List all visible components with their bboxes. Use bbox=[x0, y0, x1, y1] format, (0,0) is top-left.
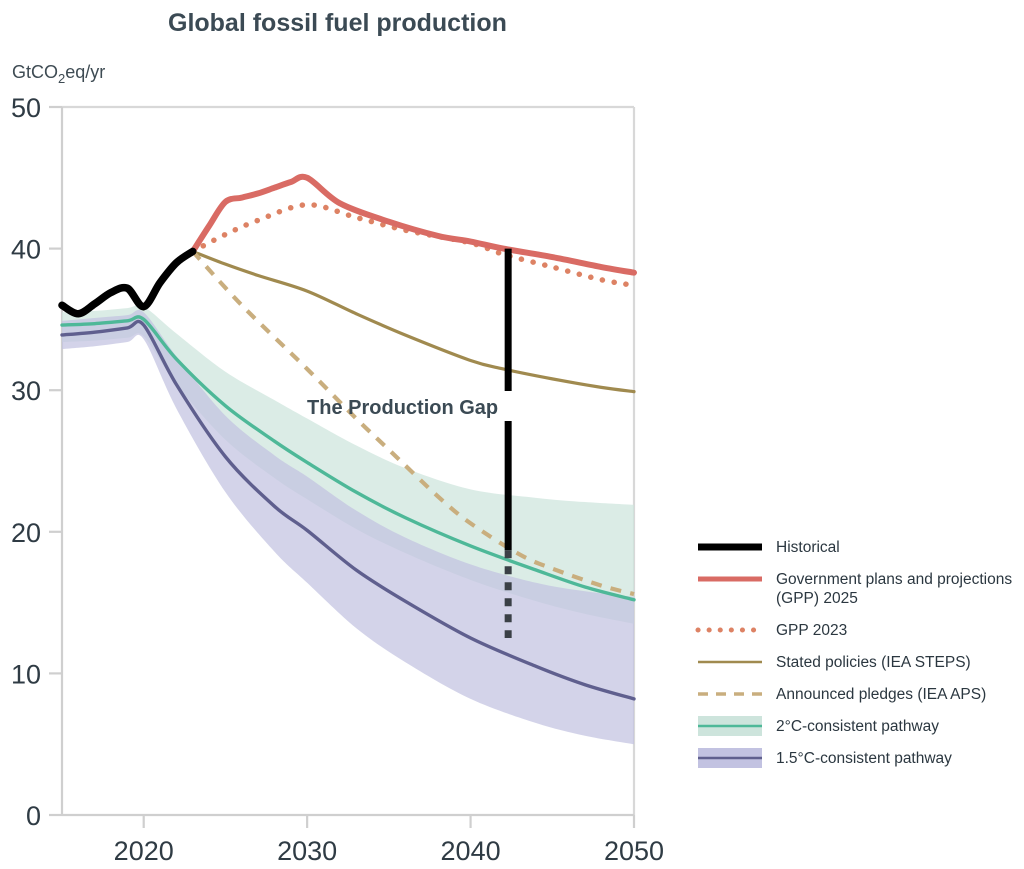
legend-item-aps[interactable]: Announced pledges (IEA APS) bbox=[698, 686, 986, 703]
y-tick-label: 0 bbox=[26, 801, 41, 831]
y-tick-label: 30 bbox=[11, 376, 41, 406]
y-axis-unit-label: GtCO2eq/yr bbox=[12, 62, 105, 86]
x-tick-label: 2020 bbox=[114, 836, 174, 866]
y-tick-label: 20 bbox=[11, 518, 41, 548]
legend-label-aps: Announced pledges (IEA APS) bbox=[776, 686, 986, 703]
global-fossil-fuel-production-chart: Global fossil fuel production GtCO2eq/yr… bbox=[0, 0, 1024, 869]
legend-label-steps: Stated policies (IEA STEPS) bbox=[776, 654, 971, 671]
x-tick-label: 2050 bbox=[604, 836, 664, 866]
legend-item-historical[interactable]: Historical bbox=[698, 539, 840, 556]
uncertainty-bands bbox=[62, 305, 634, 744]
gap-annotation-label: The Production Gap bbox=[307, 397, 498, 419]
legend-label-pathway_15c: 1.5°C-consistent pathway bbox=[776, 750, 952, 767]
y-axis: 01020304050 bbox=[11, 93, 62, 831]
x-tick-label: 2040 bbox=[441, 836, 501, 866]
y-tick-label: 40 bbox=[11, 235, 41, 265]
legend-item-steps[interactable]: Stated policies (IEA STEPS) bbox=[698, 654, 971, 671]
legend-item-pathway_2c[interactable]: 2°C-consistent pathway bbox=[698, 716, 939, 736]
legend-label-gpp_2023: GPP 2023 bbox=[776, 622, 847, 639]
chart-legend: HistoricalGovernment plans and projectio… bbox=[698, 539, 1012, 768]
legend-label-pathway_2c: 2°C-consistent pathway bbox=[776, 718, 939, 735]
y-tick-label: 50 bbox=[11, 93, 41, 123]
x-tick-label: 2030 bbox=[277, 836, 337, 866]
line-gpp_2023 bbox=[193, 205, 634, 286]
x-axis: 2020203020402050 bbox=[114, 815, 664, 866]
legend-label-gpp_2025: Government plans and projections bbox=[776, 571, 1012, 588]
legend-item-gpp_2023[interactable]: GPP 2023 bbox=[698, 622, 847, 639]
legend-item-gpp_2025[interactable]: Government plans and projections(GPP) 20… bbox=[698, 571, 1012, 607]
y-tick-label: 10 bbox=[11, 659, 41, 689]
legend-item-pathway_15c[interactable]: 1.5°C-consistent pathway bbox=[698, 748, 952, 768]
chart-title: Global fossil fuel production bbox=[168, 9, 507, 37]
legend-label2-gpp_2025: (GPP) 2025 bbox=[776, 590, 858, 607]
line-gpp_2025 bbox=[193, 177, 634, 273]
legend-label-historical: Historical bbox=[776, 539, 840, 556]
line-historical bbox=[62, 251, 193, 313]
